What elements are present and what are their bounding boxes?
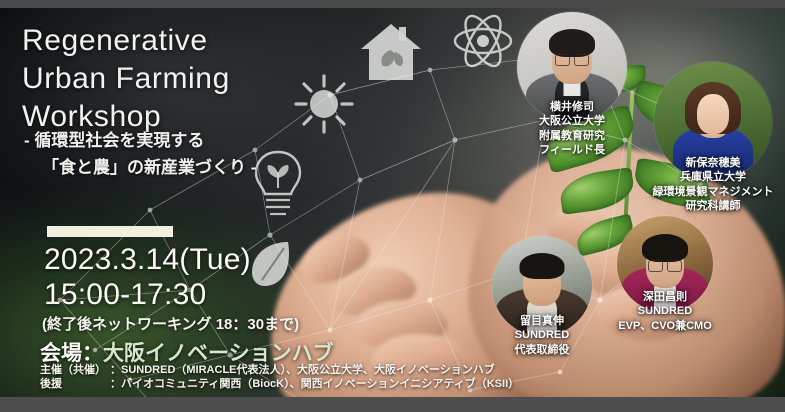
- event-poster: Regenerative Urban Farming Workshop - 循環…: [0, 0, 785, 412]
- subtitle: - 循環型社会を実現する 「食と農」の新産業づくり -: [20, 128, 450, 182]
- organizer-separator: ：: [110, 363, 121, 377]
- organizer-value: SUNDRED（MIRACLE代表法人）、大阪公立大学、大阪イノベーションハブ: [121, 363, 495, 377]
- title-line-2: Urban Farming: [22, 60, 442, 98]
- speaker-card-todome: 留目真伸 SUNDRED 代表取締役: [492, 236, 592, 336]
- subtitle-line-1: - 循環型社会を実現する: [20, 128, 450, 155]
- organizers: 主催（共催） ： SUNDRED（MIRACLE代表法人）、大阪公立大学、大阪イ…: [40, 363, 519, 392]
- venue-value: 大阪イノベーションハブ: [103, 342, 334, 365]
- organizer-separator: ：: [110, 377, 121, 391]
- letterbox-top: [0, 0, 785, 8]
- speaker-affiliation-1: 兵庫県立大学: [628, 170, 785, 184]
- speaker-affiliation-2: 代表取締役: [467, 343, 617, 357]
- organizer-label: 後援: [40, 377, 110, 391]
- page-title: Regenerative Urban Farming Workshop: [22, 22, 442, 135]
- organizer-label: 主催（共催）: [40, 363, 110, 377]
- speaker-affiliation-1: SUNDRED: [467, 328, 617, 342]
- event-date: 2023.3.14(Tue): [44, 242, 251, 277]
- speaker-caption: 留目真伸 SUNDRED 代表取締役: [467, 314, 617, 357]
- title-line-1: Regenerative: [22, 22, 442, 60]
- divider-bar: [47, 226, 173, 237]
- speaker-card-fukada: 深田昌則 SUNDRED EVP、CVO兼CMO: [617, 216, 713, 312]
- speaker-affiliation-1: 大阪公立大学: [497, 114, 647, 128]
- speaker-affiliation-3: 研究科講師: [628, 199, 785, 213]
- speaker-affiliation-2: 附属教育研究: [497, 129, 647, 143]
- networking-note: (終了後ネットワーキング 18：30まで): [42, 313, 299, 334]
- poster-copy: Regenerative Urban Farming Workshop - 循環…: [0, 0, 470, 412]
- speaker-name: 深田昌則: [590, 290, 740, 304]
- organizer-value: バイオコミュニティ関西（BiocK）、関西イノベーションイニシアティブ（KSII…: [121, 377, 519, 391]
- speaker-affiliation-2: 緑環境景観マネジメント: [628, 185, 785, 199]
- organizer-row: 後援 ： バイオコミュニティ関西（BiocK）、関西イノベーションイニシアティブ…: [40, 377, 519, 391]
- event-datetime: 2023.3.14(Tue) 15:00-17:30: [44, 242, 251, 312]
- event-time: 15:00-17:30: [44, 277, 251, 312]
- letterbox-bottom: [0, 397, 785, 412]
- venue-label: 会場：: [40, 342, 103, 365]
- speaker-caption: 横井修司 大阪公立大学 附属教育研究 フィールド長: [497, 100, 647, 157]
- speaker-name: 横井修司: [497, 100, 647, 114]
- speaker-name: 留目真伸: [467, 314, 617, 328]
- speaker-card-yokoi: 横井修司 大阪公立大学 附属教育研究 フィールド長: [517, 12, 627, 122]
- speaker-card-shimbo: 新保奈穂美 兵庫県立大学 緑環境景観マネジメント 研究科講師: [654, 62, 772, 180]
- speaker-caption: 新保奈穂美 兵庫県立大学 緑環境景観マネジメント 研究科講師: [628, 156, 785, 213]
- organizer-row: 主催（共催） ： SUNDRED（MIRACLE代表法人）、大阪公立大学、大阪イ…: [40, 363, 519, 377]
- speaker-affiliation-3: フィールド長: [497, 143, 647, 157]
- subtitle-line-2: 「食と農」の新産業づくり -: [20, 155, 450, 182]
- speaker-name: 新保奈穂美: [628, 156, 785, 170]
